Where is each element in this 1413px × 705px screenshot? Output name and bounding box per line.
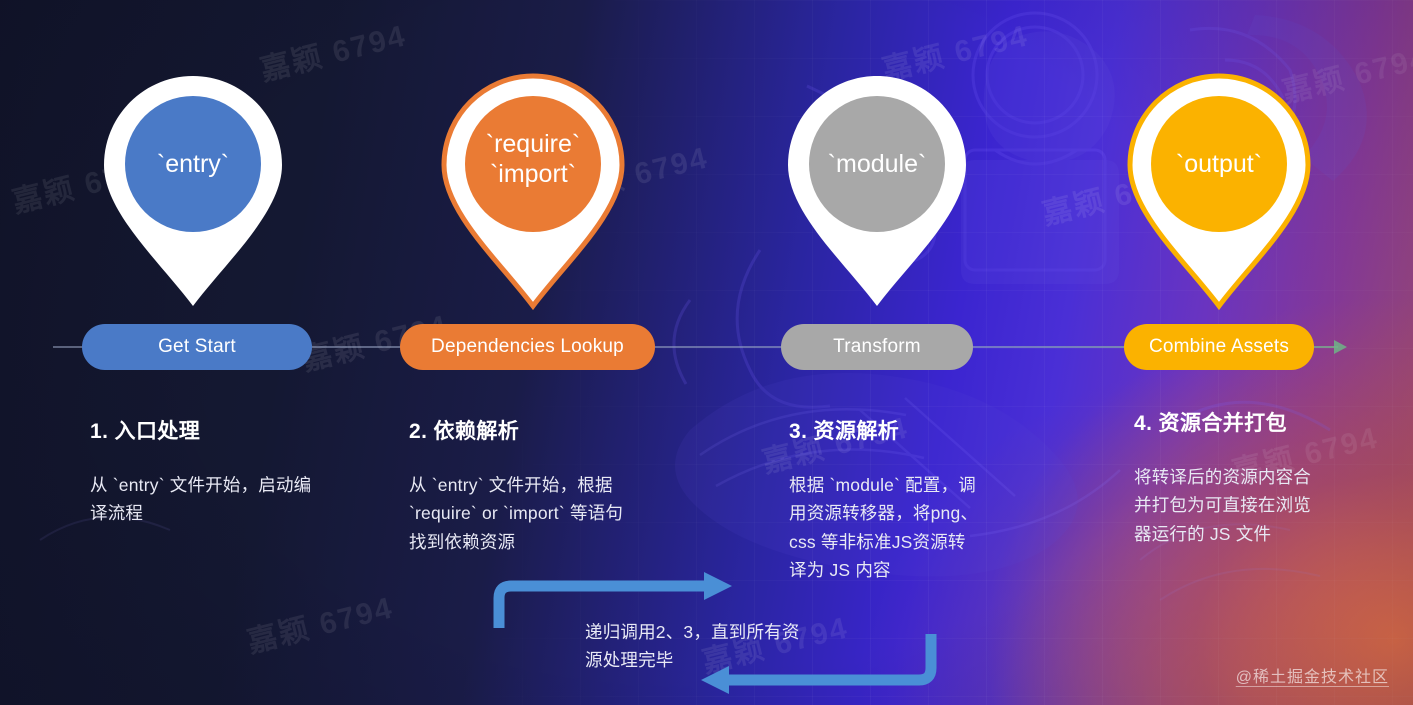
flow-baseline-arrow-icon [1334, 340, 1347, 354]
pin-marker-module[interactable]: `module` [784, 72, 970, 310]
pill-dependencies-lookup[interactable]: Dependencies Lookup [400, 324, 655, 370]
pin-marker-entry[interactable]: `entry` [100, 72, 286, 310]
step-block-3: 3. 资源解析 根据 `module` 配置，调 用资源转移器，将png、 cs… [789, 415, 1059, 584]
pill-label: Transform [833, 336, 921, 358]
slide-canvas: 嘉颖 6794 嘉颖 6794 嘉颖 6794 嘉颖 6794 嘉颖 6794 … [0, 0, 1413, 705]
recursion-loop-caption: 递归调用2、3，直到所有资 源处理完毕 [585, 618, 855, 675]
pill-label: Combine Assets [1149, 336, 1289, 358]
step-title: 4. 资源合并打包 [1134, 407, 1404, 437]
step-block-4: 4. 资源合并打包 将转译后的资源内容合 并打包为可直接在浏览 器运行的 JS … [1134, 407, 1404, 548]
step-description: 从 `entry` 文件开始，启动编 译流程 [90, 471, 390, 528]
pill-label: Get Start [158, 336, 236, 358]
footer-watermark: @稀土掘金技术社区 [1236, 663, 1389, 687]
pill-combine-assets[interactable]: Combine Assets [1124, 324, 1314, 370]
step-description: 将转译后的资源内容合 并打包为可直接在浏览 器运行的 JS 文件 [1134, 463, 1404, 548]
step-block-1: 1. 入口处理 从 `entry` 文件开始，启动编 译流程 [90, 415, 390, 528]
step-description: 从 `entry` 文件开始，根据 `require` or `import` … [409, 471, 729, 556]
step-block-2: 2. 依赖解析 从 `entry` 文件开始，根据 `require` or `… [409, 415, 729, 556]
step-description: 根据 `module` 配置，调 用资源转移器，将png、 css 等非标准JS… [789, 471, 1059, 584]
step-title: 2. 依赖解析 [409, 415, 729, 445]
pill-transform[interactable]: Transform [781, 324, 973, 370]
pill-get-start[interactable]: Get Start [82, 324, 312, 370]
step-title: 1. 入口处理 [90, 415, 390, 445]
pin-marker-require-import[interactable]: `require` `import` [440, 72, 626, 310]
pin-marker-output[interactable]: `output` [1126, 72, 1312, 310]
step-title: 3. 资源解析 [789, 415, 1059, 445]
pill-label: Dependencies Lookup [431, 336, 624, 358]
